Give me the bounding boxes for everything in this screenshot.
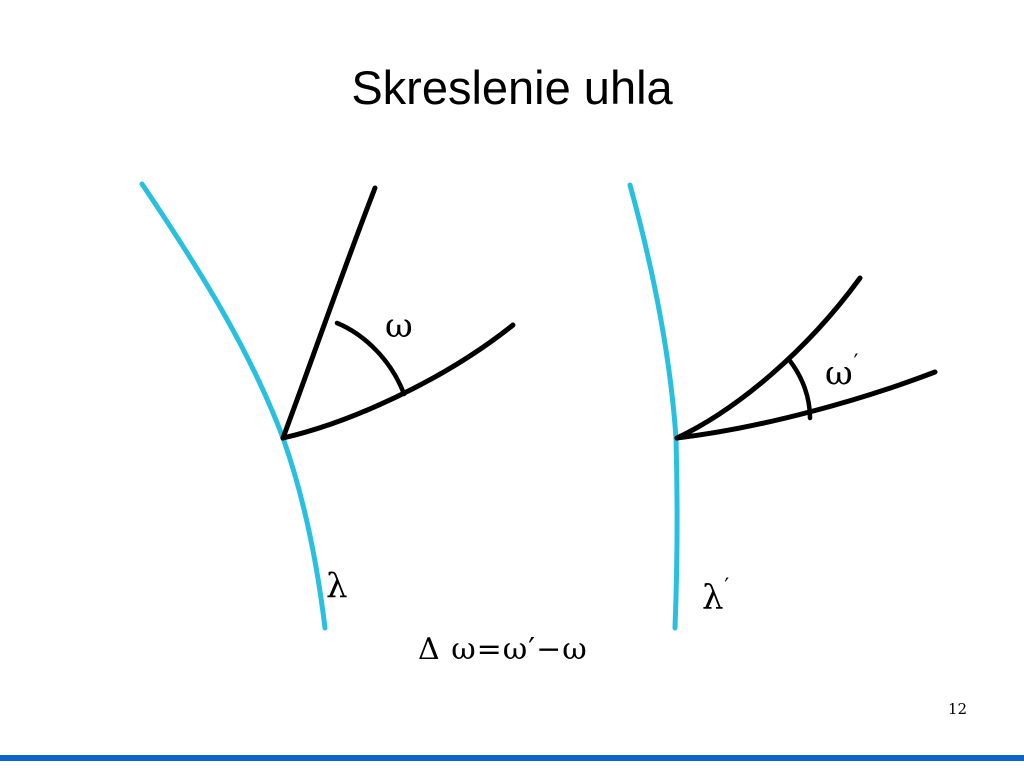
left-upper-ray-curve [283, 188, 375, 438]
slide-canvas: Skreslenie uhla ω ω′ λ λ′ Δ ω=ω′−ω 12 [0, 0, 1024, 768]
omega-glyph: ω [825, 353, 853, 393]
left-meridian-curve [142, 184, 325, 628]
prime-glyph: ′ [854, 349, 859, 374]
lambda-glyph: λ [702, 577, 724, 617]
angle-distortion-formula: Δ ω=ω′−ω [418, 632, 588, 667]
right-lower-ray-curve [677, 372, 935, 438]
left-figure-group [142, 184, 513, 628]
right-meridian-curve [630, 185, 677, 628]
right-figure-group [630, 185, 935, 628]
angle-label-omega: ω [385, 306, 413, 346]
angle-label-omega-prime: ω′ [825, 352, 858, 393]
right-angle-arc [790, 361, 810, 418]
footer-rule [0, 755, 1024, 761]
omega-glyph: ω [385, 306, 413, 346]
page-number: 12 [948, 700, 988, 718]
meridian-label-lambda: λ [326, 566, 348, 606]
lambda-glyph: λ [326, 566, 348, 606]
meridian-label-lambda-prime: λ′ [702, 576, 728, 617]
prime-glyph: ′ [724, 573, 729, 598]
